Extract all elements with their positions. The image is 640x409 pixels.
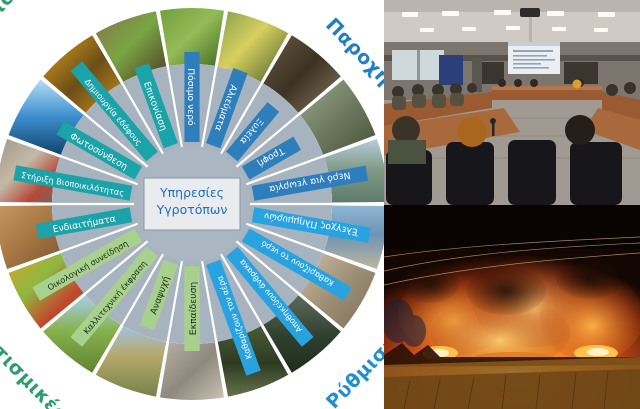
service-band-label: Πόσιμο νερό <box>185 68 196 126</box>
center-title-line1: Υπηρεσίες <box>159 185 224 200</box>
service-band[interactable]: Εκπαίδευση <box>184 266 199 351</box>
center-title-line2: Υγροτόπων <box>156 202 228 217</box>
service-band-label: Εκπαίδευση <box>188 282 199 336</box>
service-band[interactable]: Πόσιμο νερό <box>184 52 199 142</box>
photo-panel <box>384 0 640 409</box>
council-meeting-photo <box>384 0 640 205</box>
wildfire-night-photo <box>384 205 640 409</box>
wheel-graphic: ΕπικονίασηΔημιουργία εδάφουςΦωτοσύνθεσηΣ… <box>0 0 384 409</box>
photo-wedge <box>159 342 224 404</box>
screenshot-root: ΕπικονίασηΔημιουργία εδάφουςΦωτοσύνθεσηΣ… <box>0 0 640 409</box>
wetland-services-diagram: ΕπικονίασηΔημιουργία εδάφουςΦωτοσύνθεσηΣ… <box>0 0 384 409</box>
